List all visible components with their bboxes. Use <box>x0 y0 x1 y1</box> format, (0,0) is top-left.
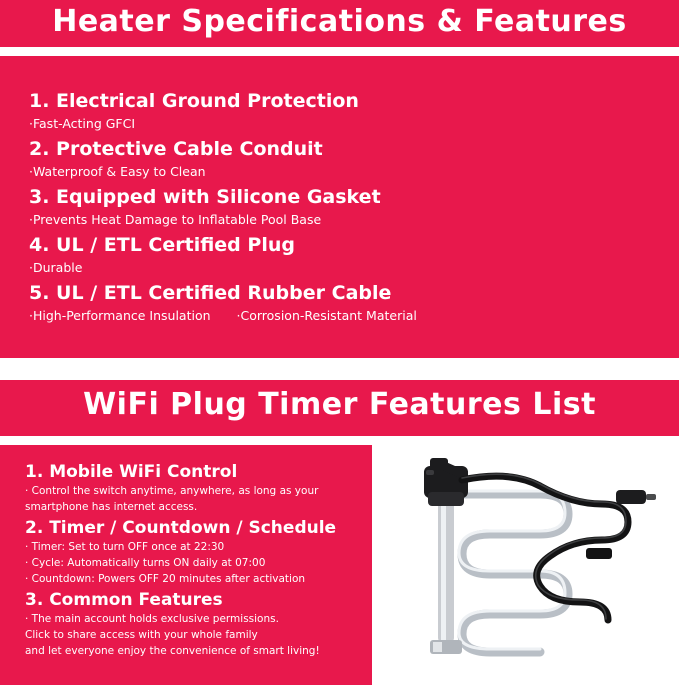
spec-item-detail-row: ·High-Performance Insulation ·Corrosion-… <box>29 306 649 328</box>
feature-item-detail: · Countdown: Powers OFF 20 minutes after… <box>25 572 365 587</box>
wifi-feature-list: 1. Mobile WiFi Control · Control the swi… <box>25 460 365 660</box>
spec-item-detail: ·High-Performance Insulation <box>29 306 211 325</box>
list-item: 2. Protective Cable Conduit ·Waterproof … <box>29 136 649 181</box>
feature-item-detail: · Timer: Set to turn OFF once at 22:30 <box>25 540 365 555</box>
feature-item-detail: · The main account holds exclusive permi… <box>25 612 365 627</box>
list-item: 3. Common Features · The main account ho… <box>25 588 365 659</box>
feature-item-detail: · Cycle: Automatically turns ON daily at… <box>25 556 365 571</box>
spec-item-title: 3. Equipped with Silicone Gasket <box>29 184 649 210</box>
section2-divider <box>0 436 679 445</box>
spec-item-title: 2. Protective Cable Conduit <box>29 136 649 162</box>
spec-item-detail: ·Corrosion-Resistant Material <box>237 306 417 325</box>
list-item: 1. Electrical Ground Protection ·Fast-Ac… <box>29 88 649 133</box>
list-item: 3. Equipped with Silicone Gasket ·Preven… <box>29 184 649 229</box>
list-item: 4. UL / ETL Certified Plug ·Durable <box>29 232 649 277</box>
feature-item-detail: and let everyone enjoy the convenience o… <box>25 644 365 659</box>
spec-item-detail: ·Prevents Heat Damage to Inflatable Pool… <box>29 210 649 229</box>
list-item: 1. Mobile WiFi Control · Control the swi… <box>25 460 365 515</box>
product-infographic: Heater Specifications & Features 1. Elec… <box>0 0 679 685</box>
section1-divider <box>0 47 679 56</box>
section1-title: Heater Specifications & Features <box>0 4 679 39</box>
heater-spec-list: 1. Electrical Ground Protection ·Fast-Ac… <box>29 88 649 328</box>
feature-item-detail: smartphone has internet access. <box>25 500 365 515</box>
list-item: 5. UL / ETL Certified Rubber Cable ·High… <box>29 280 649 328</box>
feature-item-title: 1. Mobile WiFi Control <box>25 460 365 484</box>
spec-item-detail: ·Fast-Acting GFCI <box>29 114 649 133</box>
feature-item-title: 3. Common Features <box>25 588 365 612</box>
spec-item-detail: ·Durable <box>29 258 649 277</box>
spec-item-title: 5. UL / ETL Certified Rubber Cable <box>29 280 649 306</box>
product-photo <box>390 452 667 678</box>
spec-item-title: 1. Electrical Ground Protection <box>29 88 649 114</box>
feature-item-detail: Click to share access with your whole fa… <box>25 628 365 643</box>
spec-item-title: 4. UL / ETL Certified Plug <box>29 232 649 258</box>
list-item: 2. Timer / Countdown / Schedule · Timer:… <box>25 516 365 587</box>
section2-title: WiFi Plug Timer Features List <box>0 387 679 422</box>
feature-item-title: 2. Timer / Countdown / Schedule <box>25 516 365 540</box>
spec-item-detail: ·Waterproof & Easy to Clean <box>29 162 649 181</box>
feature-item-detail: · Control the switch anytime, anywhere, … <box>25 484 365 499</box>
